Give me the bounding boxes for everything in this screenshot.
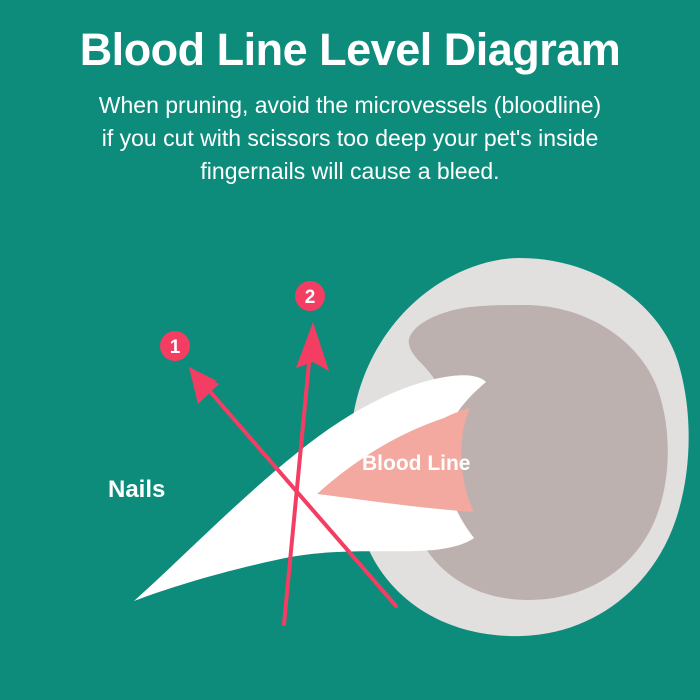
marker-badge-1-label: 1: [170, 337, 181, 358]
diagram-page: Blood Line Level Diagram When pruning, a…: [0, 0, 700, 700]
blood-line-label: Blood Line: [362, 452, 471, 475]
marker-badge-2-label: 2: [305, 287, 316, 308]
nail-anatomy-illustration: Blood Line Nails 1 2: [0, 0, 700, 700]
cut-line-2-arrowhead: [296, 322, 329, 371]
nails-label: Nails: [108, 476, 165, 503]
